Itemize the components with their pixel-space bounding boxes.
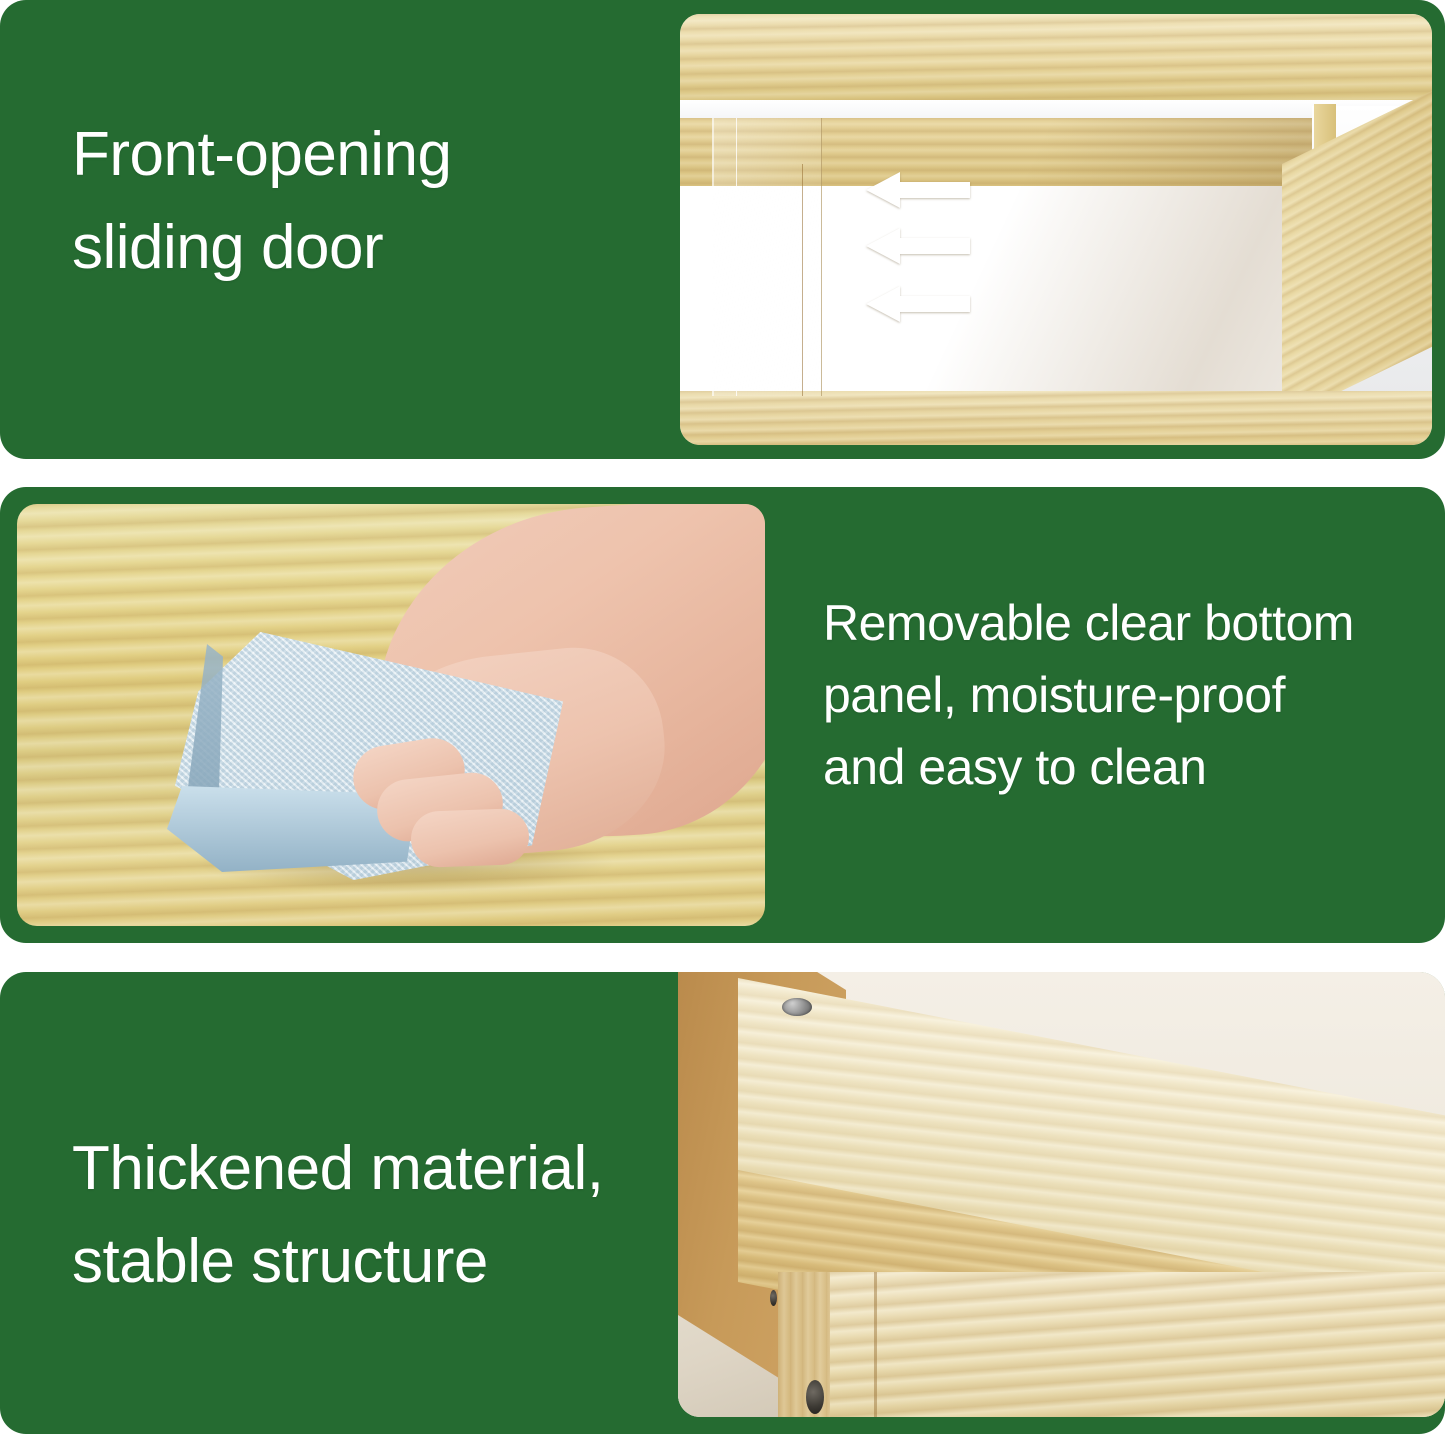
side-screw-1-icon [806, 1380, 824, 1414]
side-pilot-hole-1-icon [770, 1290, 777, 1306]
clear-panel-highlight [736, 118, 737, 396]
panel-2-caption: Removable clear bottom panel, moisture-p… [823, 587, 1403, 803]
clear-sliding-panel [712, 118, 822, 396]
panel-3-caption: Thickened material, stable structure [72, 1122, 692, 1308]
feature-panel-front-opening-sliding-door: Front-opening sliding door [0, 0, 1445, 459]
product-feature-infographic: Front-opening sliding door [0, 0, 1445, 1434]
panel-1-caption-line-1: Front-opening [72, 108, 632, 201]
clear-panel-edge [802, 164, 803, 396]
feature-panel-thickened-material: Thickened material, stable structure [0, 972, 1445, 1434]
panel-2-caption-line-1: Removable clear bottom [823, 587, 1403, 659]
finger-3 [410, 808, 530, 868]
feature-panel-removable-clear-bottom-panel: Removable clear bottom panel, moisture-p… [0, 487, 1445, 943]
panel-2-caption-line-2: panel, moisture-proof [823, 659, 1403, 731]
drawer-front-rail [680, 391, 1432, 445]
panel-1-caption: Front-opening sliding door [72, 108, 632, 294]
box-front-face [830, 1272, 1445, 1417]
open-drawer-interior-photo [680, 14, 1432, 445]
top-screw-icon [782, 998, 812, 1016]
hand-wiping-wood-photo [17, 504, 765, 926]
panel-3-caption-line-2: stable structure [72, 1215, 692, 1308]
panel-2-caption-line-3: and easy to clean [823, 731, 1403, 803]
panel-3-caption-line-1: Thickened material, [72, 1122, 692, 1215]
slide-direction-arrow-2-icon [866, 228, 970, 264]
box-corner-closeup-photo [678, 972, 1445, 1417]
drawer-top-rail [680, 14, 1432, 100]
panel-seam [874, 1272, 877, 1417]
slide-direction-arrow-1-icon [866, 172, 970, 208]
panel-1-caption-line-2: sliding door [72, 201, 632, 294]
slide-direction-arrow-3-icon [866, 286, 970, 322]
